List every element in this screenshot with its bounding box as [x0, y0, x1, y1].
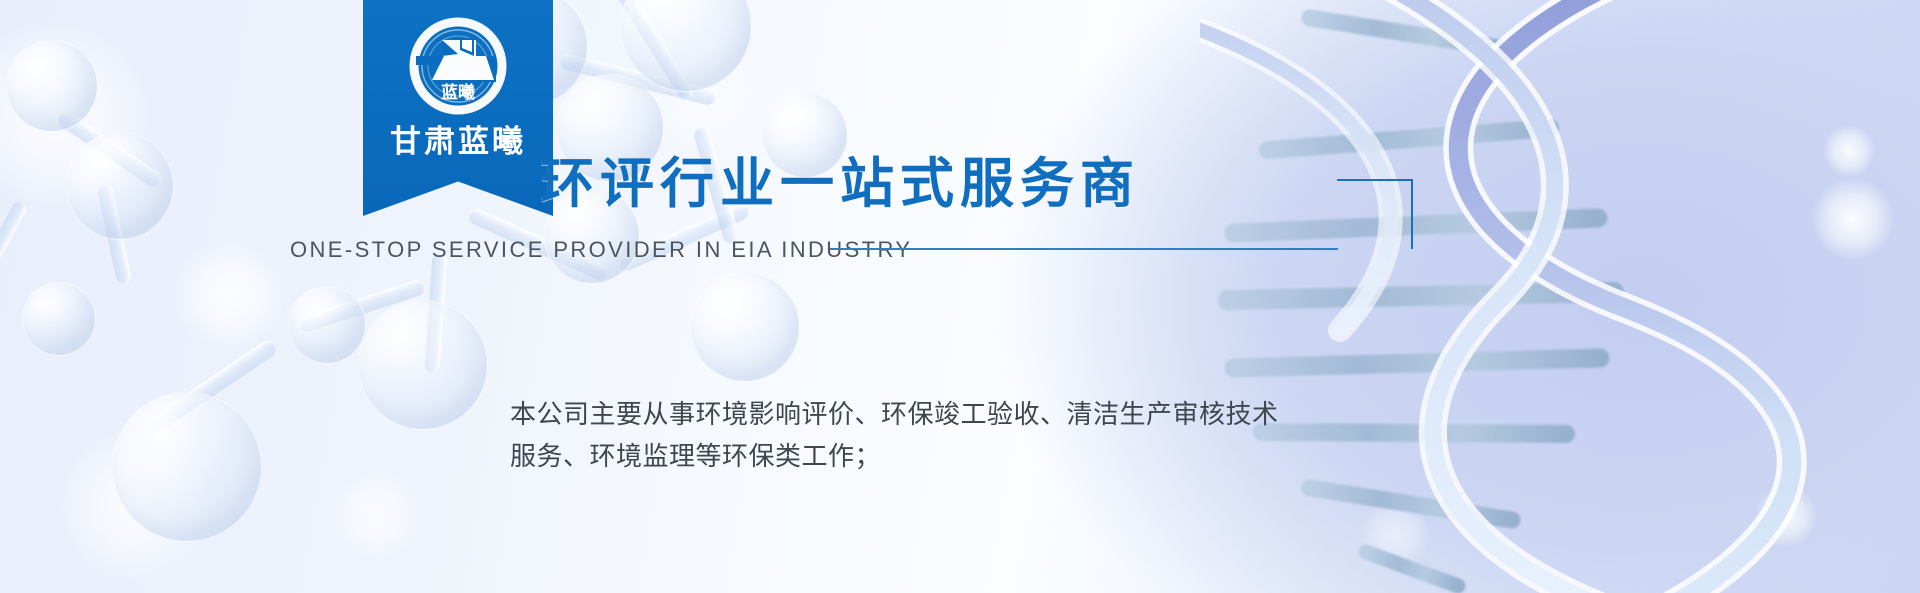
- molecule-bond: [0, 200, 28, 291]
- subtitle-rule: [830, 248, 1338, 250]
- page-title: 环评行业一站式服务商: [540, 139, 1140, 218]
- molecule-atom: [6, 40, 98, 132]
- bracket-top-line: [1337, 179, 1413, 181]
- intro-paragraph: 本公司主要从事环境影响评价、环保竣工验收、清洁生产审核技术 服务、环境监理等环保…: [510, 394, 1279, 478]
- molecule-atom: [690, 272, 800, 382]
- molecule-atom: [288, 286, 366, 364]
- subtitle-english: ONE-STOP SERVICE PROVIDER IN EIA INDUSTR…: [290, 237, 912, 263]
- company-badge-ribbon[interactable]: 蓝曦 甘肃蓝曦: [363, 0, 553, 216]
- dna-helix-graphic: [1200, 0, 1920, 593]
- intro-paragraph-line2: 服务、环境监理等环保类工作；: [510, 436, 1279, 478]
- molecule-atom: [112, 392, 262, 542]
- hero-banner: 蓝曦 甘肃蓝曦 环评行业一站式服务商 ONE-STOP SERVICE PROV…: [0, 0, 1920, 593]
- molecule-atom: [22, 282, 96, 356]
- molecule-atom: [358, 300, 488, 430]
- bokeh-glow: [175, 240, 285, 350]
- bracket-vertical-line: [1411, 179, 1413, 249]
- logo-mark-text: 蓝曦: [441, 82, 475, 102]
- circular-emblem-icon: 蓝曦: [398, 16, 518, 124]
- company-short-name: 甘肃蓝曦: [363, 116, 553, 161]
- molecule-atom: [66, 132, 174, 240]
- bokeh-glow: [330, 470, 420, 560]
- intro-paragraph-line1: 本公司主要从事环境影响评价、环保竣工验收、清洁生产审核技术: [510, 394, 1279, 436]
